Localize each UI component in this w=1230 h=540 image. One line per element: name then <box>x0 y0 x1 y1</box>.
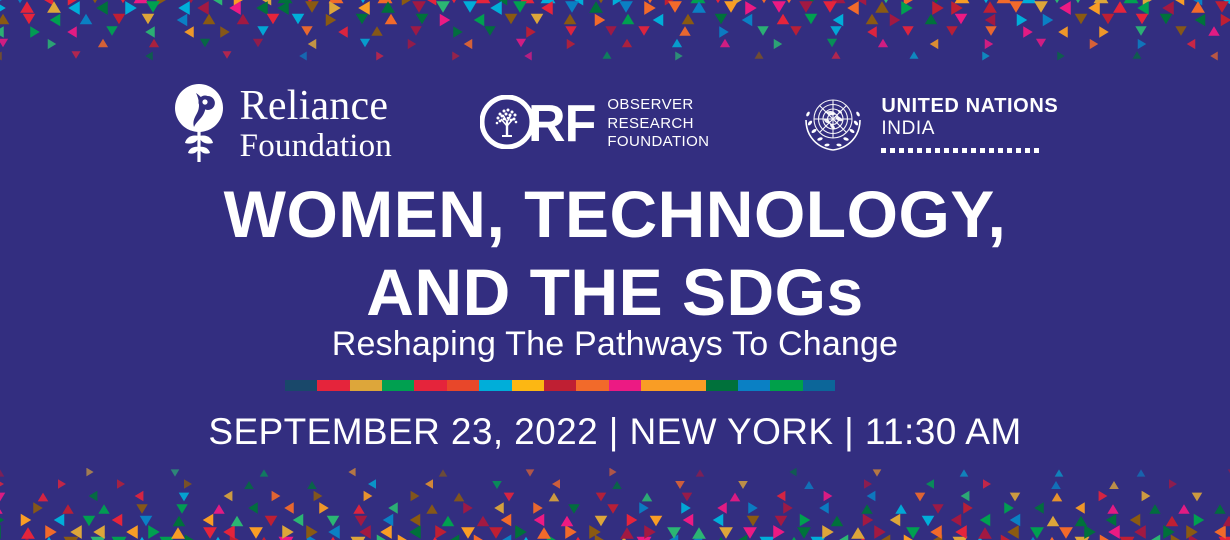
decor-triangle <box>836 535 849 540</box>
decor-triangle <box>45 525 57 539</box>
decor-triangle <box>960 469 969 476</box>
decor-triangle <box>1160 14 1173 25</box>
decor-triangle <box>0 0 5 6</box>
sdg-color-segment-1 <box>285 380 317 391</box>
decor-triangle <box>930 535 943 540</box>
decor-triangle <box>1059 1 1071 15</box>
decor-triangle <box>293 514 304 527</box>
decor-triangle <box>1057 52 1065 61</box>
decor-triangle <box>308 39 317 49</box>
decor-triangle <box>832 51 841 59</box>
decor-triangle <box>197 1 209 15</box>
decor-triangle <box>425 479 433 489</box>
decor-triangle <box>504 493 515 502</box>
decor-triangle <box>951 514 962 527</box>
orf-word-line1: OBSERVER <box>607 96 709 115</box>
decor-triangle <box>683 514 694 527</box>
decor-triangle <box>142 14 155 25</box>
decor-triangle <box>692 1 706 13</box>
decor-triangle <box>477 516 490 527</box>
decor-triangle <box>833 14 844 27</box>
decor-triangle <box>378 0 393 3</box>
decor-triangle <box>314 491 323 502</box>
decor-triangle <box>1136 14 1149 25</box>
decor-triangle <box>348 468 355 476</box>
sdg-color-segment-11 <box>609 380 641 391</box>
decor-triangle <box>822 525 834 539</box>
decor-triangle <box>565 26 576 36</box>
orf-tree-in-circle-icon <box>480 95 534 154</box>
decor-triangle <box>248 502 258 513</box>
decor-triangle <box>547 535 560 540</box>
decor-triangle <box>650 516 663 527</box>
decor-triangle <box>1149 504 1160 514</box>
decor-triangle <box>589 1 603 13</box>
sdg-color-segment-16 <box>770 380 802 391</box>
decor-triangle <box>985 26 996 36</box>
decor-triangle <box>963 502 973 513</box>
decor-triangle <box>930 39 939 49</box>
decor-triangle <box>805 14 818 25</box>
decor-triangle <box>0 504 3 514</box>
decor-triangle <box>679 26 690 36</box>
decor-triangle <box>541 1 553 15</box>
decor-triangle <box>292 14 305 25</box>
un-dot <box>962 148 967 153</box>
decor-triangle <box>1137 469 1146 476</box>
decor-triangle <box>639 502 649 513</box>
decor-triangle <box>360 39 370 48</box>
decor-triangle <box>681 502 691 513</box>
decor-triangle <box>1023 26 1033 37</box>
decor-triangle <box>1192 493 1203 502</box>
decor-triangle <box>724 1 738 13</box>
decor-triangle <box>589 525 601 539</box>
decor-triangle <box>675 481 685 489</box>
decor-triangle <box>1107 504 1118 514</box>
decor-triangle <box>140 516 153 527</box>
title-line-2: AND THE SDGs <box>0 254 1230 332</box>
decor-triangle <box>231 516 244 527</box>
decor-triangle <box>383 514 394 527</box>
decor-triangle <box>866 14 879 25</box>
decor-triangle <box>1133 51 1142 59</box>
decor-triangle <box>1186 525 1198 539</box>
decor-triangle <box>0 52 2 61</box>
decor-triangle <box>96 1 108 15</box>
decor-triangle <box>1171 535 1184 540</box>
decor-triangle <box>800 514 811 527</box>
decor-triangle <box>516 39 526 48</box>
event-details: SEPTEMBER 23, 2022 | NEW YORK | 11:30 AM <box>0 411 1230 453</box>
decor-triangle <box>328 525 340 539</box>
decor-triangle <box>775 516 788 527</box>
decor-triangle <box>463 1 477 13</box>
decor-triangle <box>426 504 437 514</box>
decor-triangle <box>831 0 846 3</box>
decor-triangle <box>520 0 535 3</box>
decor-triangle <box>564 14 577 25</box>
decor-triangle <box>416 14 429 25</box>
decor-triangle <box>230 535 243 540</box>
un-dot <box>908 148 913 153</box>
decor-triangle <box>552 479 560 489</box>
decor-triangle <box>353 504 364 514</box>
decor-triangle <box>1220 0 1230 6</box>
decor-triangle <box>951 1 963 15</box>
decor-triangle <box>863 514 874 527</box>
orf-letters: RF <box>528 98 595 150</box>
decor-triangle <box>1137 1 1149 15</box>
orf-word-line3: FOUNDATION <box>607 133 709 152</box>
sdg-color-segment-8 <box>512 380 544 391</box>
decor-triangle <box>210 0 223 6</box>
decor-triangle <box>831 516 844 527</box>
decor-triangle <box>476 0 491 3</box>
decor-triangle <box>619 1 633 13</box>
decor-triangle <box>1130 514 1141 527</box>
decor-triangle <box>501 514 512 527</box>
decor-triangle <box>567 39 576 49</box>
decor-triangle <box>1055 469 1064 476</box>
decor-triangle <box>742 14 753 27</box>
decor-triangle <box>21 527 35 539</box>
decor-triangle <box>549 493 560 502</box>
decor-triangle <box>755 51 764 59</box>
decor-triangle <box>495 0 508 6</box>
sdg-color-segment-6 <box>447 380 479 391</box>
decor-triangle <box>622 39 632 48</box>
decor-triangle <box>1088 1 1100 15</box>
decor-triangle <box>1058 26 1068 37</box>
un-dot <box>935 148 940 153</box>
decor-triangle <box>743 527 757 539</box>
decor-triangle <box>961 491 970 502</box>
decor-triangle <box>929 0 944 3</box>
decor-triangle <box>782 0 797 3</box>
decor-triangle <box>1163 525 1175 539</box>
decor-triangle <box>644 1 656 15</box>
decor-triangle <box>1071 0 1086 3</box>
orf-mark: RF <box>480 95 595 154</box>
decor-triangle <box>757 26 768 36</box>
un-dot <box>998 148 1003 153</box>
decor-triangle <box>1221 14 1230 27</box>
decor-triangle <box>906 527 920 539</box>
decor-triangle <box>620 527 634 539</box>
decor-triangle <box>171 527 185 539</box>
decor-triangle <box>789 468 796 476</box>
sdg-color-segment-12 <box>641 380 673 391</box>
decor-triangle <box>861 504 872 514</box>
decor-triangle <box>904 0 917 6</box>
decor-triangle <box>436 1 450 13</box>
decor-triangle <box>719 527 733 539</box>
decor-triangle <box>62 504 73 514</box>
decor-triangle <box>284 502 294 513</box>
decor-triangle <box>447 0 462 3</box>
decor-triangle <box>306 525 318 539</box>
decor-triangle <box>526 469 535 476</box>
decor-triangle <box>50 14 61 27</box>
decor-triangle <box>1030 527 1044 539</box>
un-dot <box>971 148 976 153</box>
decor-triangle <box>452 52 460 61</box>
decor-triangle <box>48 39 57 49</box>
decor-triangle <box>1143 0 1156 6</box>
decor-triangle <box>682 14 695 25</box>
decor-triangle <box>0 514 4 527</box>
decor-triangle <box>265 516 278 527</box>
decor-triangle <box>453 26 463 37</box>
decor-triangle <box>541 0 556 3</box>
decor-triangle <box>234 0 247 6</box>
decor-triangle <box>747 516 760 527</box>
decor-triangle <box>874 525 886 539</box>
decor-triangle <box>955 525 967 539</box>
decor-triangle <box>1124 0 1139 3</box>
decor-triangle <box>319 502 329 513</box>
decor-triangle <box>719 26 729 37</box>
decor-triangle <box>179 493 190 502</box>
decor-triangle <box>402 0 415 6</box>
decor-triangle <box>67 26 77 37</box>
decor-triangle <box>783 502 793 513</box>
decor-triangle <box>203 14 216 25</box>
decor-triangle <box>54 514 65 527</box>
decor-triangle <box>665 0 678 6</box>
decor-triangle <box>398 535 411 540</box>
decor-triangle <box>388 502 398 513</box>
decor-triangle <box>173 516 186 527</box>
decor-triangle <box>537 527 551 539</box>
decor-triangle <box>408 39 417 49</box>
decor-triangle <box>249 527 263 539</box>
decor-triangle <box>505 14 518 25</box>
decor-triangle <box>609 468 616 476</box>
decor-triangle <box>23 14 36 25</box>
decor-triangle <box>83 516 96 527</box>
decor-triangle <box>125 1 137 15</box>
un-dot <box>944 148 949 153</box>
decor-triangle <box>955 14 968 25</box>
decor-triangle <box>463 502 473 513</box>
decor-triangle <box>1214 525 1226 539</box>
decor-triangle <box>184 479 192 489</box>
decor-triangle <box>145 52 153 61</box>
decor-triangle <box>412 1 426 13</box>
decor-triangle <box>1113 1 1127 13</box>
decor-triangle <box>720 39 730 48</box>
decor-triangle <box>461 527 475 539</box>
decor-triangle <box>359 525 371 539</box>
un-dot <box>1007 148 1012 153</box>
triangle-border-top <box>0 0 1230 62</box>
decor-triangle <box>1047 516 1060 527</box>
decor-triangle <box>409 525 421 539</box>
decor-triangle <box>267 14 280 25</box>
reliance-line2: Foundation <box>240 130 392 163</box>
triangle-border-bottom <box>0 468 1230 540</box>
decor-triangle <box>224 491 233 502</box>
decor-triangle <box>1166 516 1179 527</box>
decor-triangle <box>454 493 465 502</box>
un-globe-olive-branches-icon <box>797 86 869 163</box>
decor-triangle <box>1172 0 1185 6</box>
decor-triangle <box>1190 0 1203 6</box>
decor-triangle <box>1194 514 1205 527</box>
decor-triangle <box>489 527 503 539</box>
decor-triangle <box>1214 504 1225 514</box>
decor-triangle <box>1094 0 1109 3</box>
sdg-color-segment-9 <box>544 380 576 391</box>
decor-triangle <box>185 535 198 540</box>
decor-triangle <box>260 469 269 476</box>
decor-triangle <box>440 14 451 27</box>
decor-triangle <box>410 514 421 527</box>
decor-triangle <box>145 26 155 37</box>
decor-triangle <box>926 479 934 489</box>
decor-triangle <box>148 525 160 539</box>
decor-triangle <box>867 491 876 502</box>
decor-triangle <box>867 26 877 37</box>
decor-triangle <box>777 491 786 502</box>
decor-triangle <box>595 516 608 527</box>
decor-triangle <box>184 0 199 3</box>
decor-triangle <box>983 1 997 13</box>
decor-triangle <box>594 0 609 3</box>
decor-triangle <box>644 525 656 539</box>
decor-triangle <box>980 514 991 527</box>
decor-triangle <box>531 14 544 25</box>
decor-triangle <box>643 0 658 3</box>
decor-triangle <box>13 0 28 3</box>
decor-triangle <box>915 493 926 502</box>
decor-triangle <box>223 525 235 539</box>
un-dotted-rule <box>881 148 1058 153</box>
decor-triangle <box>1004 502 1014 513</box>
decor-triangle <box>745 1 757 15</box>
decor-triangle <box>1090 39 1099 49</box>
decor-triangle <box>622 14 635 25</box>
decor-triangle <box>171 469 180 476</box>
decor-triangle <box>1043 14 1054 27</box>
decor-triangle <box>596 493 607 502</box>
decor-triangle <box>985 39 994 49</box>
decor-triangle <box>376 52 384 61</box>
decor-triangle <box>1142 491 1151 502</box>
decor-triangle <box>338 26 348 37</box>
decor-triangle <box>904 535 917 540</box>
decor-triangle <box>203 527 217 539</box>
decor-triangle <box>385 14 398 25</box>
decor-triangle <box>851 527 865 539</box>
decor-triangle <box>738 481 748 489</box>
un-wordmark: UNITED NATIONS INDIA <box>881 95 1058 154</box>
orf-word-line2: RESEARCH <box>607 115 709 134</box>
decor-triangle <box>682 493 693 502</box>
decor-triangle <box>220 26 230 37</box>
decor-triangle <box>1100 535 1113 540</box>
decor-triangle <box>33 502 43 513</box>
decor-triangle <box>259 0 272 6</box>
decor-triangle <box>983 479 991 489</box>
decor-triangle <box>733 0 746 6</box>
decor-triangle <box>303 0 318 3</box>
partner-logo-row: Reliance Foundation <box>0 82 1230 166</box>
decor-triangle <box>113 14 126 25</box>
decor-triangle <box>1162 1 1174 15</box>
decor-triangle <box>1001 535 1014 540</box>
decor-triangle <box>1022 0 1037 3</box>
decor-triangle <box>88 0 103 3</box>
decor-triangle <box>605 26 616 36</box>
decor-triangle <box>1075 14 1088 25</box>
decor-triangle <box>985 14 996 27</box>
decor-triangle <box>256 1 268 15</box>
un-dot <box>926 148 931 153</box>
decor-triangle <box>277 1 289 15</box>
decor-triangle <box>301 26 312 36</box>
decor-triangle <box>1134 525 1146 539</box>
un-line2: INDIA <box>881 118 1058 140</box>
decor-triangle <box>561 516 574 527</box>
decor-triangle <box>447 535 460 540</box>
decor-triangle <box>89 491 98 502</box>
decor-triangle <box>774 39 783 49</box>
decor-triangle <box>613 0 626 6</box>
sdg-color-segment-3 <box>350 380 382 391</box>
decor-triangle <box>603 51 612 59</box>
decor-triangle <box>1138 39 1147 49</box>
decor-triangle <box>98 39 108 48</box>
decor-triangle <box>1189 535 1202 540</box>
decor-triangle <box>565 1 579 13</box>
decor-triangle <box>930 525 942 539</box>
sdg-color-segment-5 <box>414 380 446 391</box>
decor-triangle <box>435 525 447 539</box>
decor-triangle <box>424 0 437 6</box>
decor-triangle <box>135 491 144 502</box>
decor-triangle <box>157 0 170 6</box>
decor-triangle <box>492 481 502 489</box>
decor-triangle <box>136 504 147 514</box>
decor-triangle <box>490 1 502 15</box>
decor-triangle <box>0 469 4 476</box>
decor-triangle <box>41 0 54 6</box>
reliance-flame-leaf-icon <box>172 80 230 169</box>
decor-triangle <box>329 0 344 3</box>
decor-triangle <box>1178 504 1189 514</box>
decor-triangle <box>895 504 906 514</box>
decor-triangle <box>72 51 81 59</box>
decor-triangle <box>464 39 473 49</box>
decor-triangle <box>772 1 786 13</box>
sdg-color-segment-4 <box>382 380 414 391</box>
decor-triangle <box>946 26 957 36</box>
decor-triangle <box>326 14 337 27</box>
decor-triangle <box>515 525 527 539</box>
decor-triangle <box>282 525 294 539</box>
decor-triangle <box>847 1 859 15</box>
decor-triangle <box>327 516 340 527</box>
decor-triangle <box>106 26 117 36</box>
decor-triangle <box>1175 26 1186 36</box>
decor-triangle <box>356 14 369 25</box>
decor-triangle <box>932 504 943 514</box>
decor-triangle <box>713 514 724 527</box>
decor-triangle <box>1169 479 1177 489</box>
